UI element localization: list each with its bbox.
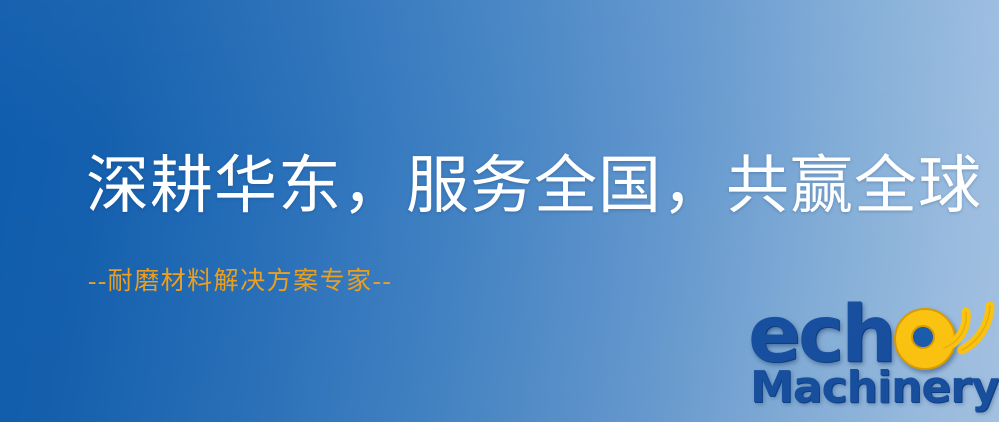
promo-banner: 深耕华东，服务全国，共赢全球 --耐磨材料解决方案专家-- ech M (0, 0, 999, 422)
company-logo: ech Machinery® (744, 300, 999, 422)
logo-machinery-label: Machinery (750, 362, 999, 413)
banner-headline: 深耕华东，服务全国，共赢全球 (86, 152, 982, 220)
banner-subtitle: --耐磨材料解决方案专家-- (88, 268, 392, 296)
signal-waves-icon (936, 292, 999, 358)
echo-o-hole (911, 325, 935, 349)
logo-machinery-text: Machinery® (750, 366, 999, 410)
